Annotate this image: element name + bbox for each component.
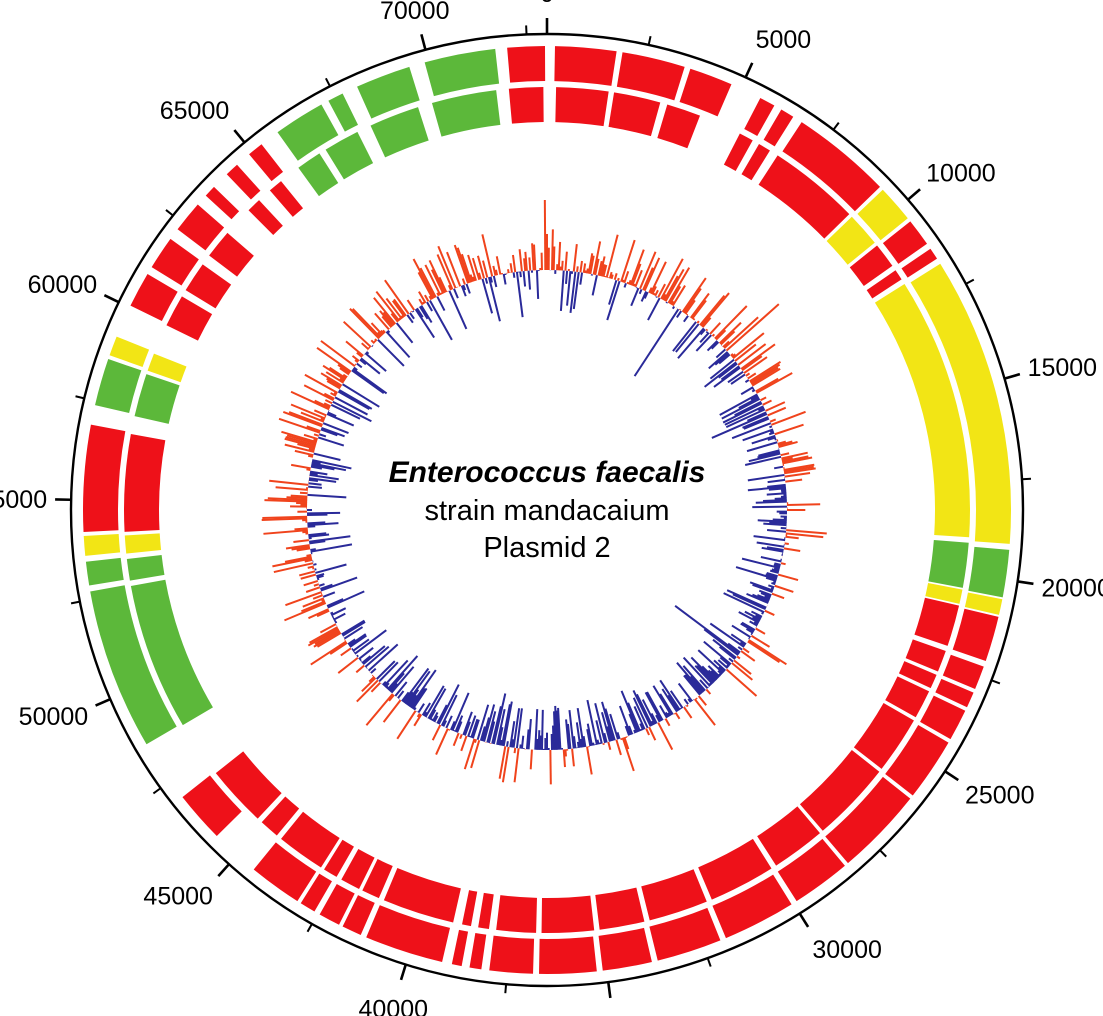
- gc-skew-positive-spike: [746, 373, 750, 375]
- gc-skew-negative-spike: [768, 585, 774, 587]
- gc-skew-positive-spike: [574, 244, 577, 271]
- gc-skew-negative-spike: [333, 618, 334, 619]
- gc-skew-positive-spike: [263, 530, 307, 534]
- gc-skew-negative-spike: [553, 726, 554, 750]
- gc-skew-positive-spike: [308, 609, 328, 618]
- gc-skew-positive-spike: [461, 736, 466, 751]
- gc-skew-positive-spike: [572, 749, 574, 767]
- gc-skew-negative-spike: [680, 708, 681, 709]
- gc-skew-positive-spike: [338, 658, 358, 673]
- gc-skew-positive-spike: [680, 309, 681, 310]
- gc-skew-negative-spike: [673, 306, 674, 308]
- gc-skew-positive-spike: [559, 242, 560, 270]
- gc-skew-positive-spike: [781, 453, 789, 455]
- gc-skew-negative-spike: [675, 606, 739, 654]
- gc-skew-positive-spike: [357, 680, 378, 701]
- gc-skew-negative-spike: [514, 272, 515, 277]
- gc-skew-positive-spike: [770, 419, 776, 421]
- gc-skew-positive-spike: [306, 469, 310, 470]
- gc-skew-negative-spike: [773, 582, 776, 583]
- axis-tick-major: [96, 699, 111, 705]
- gc-skew-negative-spike: [641, 729, 642, 731]
- gene-feature-red: [178, 205, 225, 251]
- gc-skew-positive-spike: [781, 563, 786, 564]
- gc-skew-negative-spike: [357, 364, 362, 368]
- gc-skew-negative-spike: [684, 699, 688, 704]
- gene-feature-red: [478, 893, 494, 929]
- axis-tick-label-5000: 5000: [756, 26, 812, 54]
- gc-skew-positive-spike: [355, 364, 356, 365]
- axis-tick-label-10000: 10000: [926, 159, 996, 187]
- gc-skew-negative-spike: [491, 277, 492, 283]
- gene-feature-red: [152, 239, 199, 286]
- gc-skew-negative-spike: [529, 271, 530, 290]
- plasmid-name: Plasmid 2: [483, 532, 610, 564]
- gc-skew-positive-spike: [612, 275, 613, 279]
- gc-skew-negative-spike: [319, 434, 326, 436]
- gc-skew-negative-spike: [353, 369, 387, 394]
- gc-skew-positive-spike: [433, 725, 441, 740]
- gc-skew-negative-spike: [379, 662, 398, 681]
- gc-skew-positive-spike: [775, 425, 804, 435]
- gc-skew-negative-spike: [437, 297, 444, 311]
- axis-tick-minor: [708, 958, 711, 966]
- gc-skew-positive-spike: [515, 748, 516, 753]
- gc-skew-negative-spike: [745, 380, 748, 382]
- gc-skew-positive-spike: [676, 713, 680, 719]
- gene-feature-yellow: [125, 533, 161, 553]
- gc-skew-negative-spike: [332, 616, 333, 617]
- axis-tick-label-60000: 60000: [28, 271, 98, 299]
- gc-skew-negative-spike: [748, 475, 785, 480]
- gc-skew-positive-spike: [515, 748, 519, 782]
- gene-feature-red: [609, 92, 661, 136]
- gc-skew-positive-spike: [608, 742, 610, 750]
- gc-skew-negative-spike: [334, 620, 335, 621]
- gc-skew-positive-spike: [291, 496, 308, 497]
- axis-tick-label-50000: 50000: [19, 703, 89, 731]
- gc-skew-negative-spike: [321, 578, 357, 591]
- gc-skew-negative-spike: [747, 442, 777, 451]
- gene-feature-red: [496, 895, 537, 933]
- gc-skew-positive-spike: [302, 532, 308, 533]
- gc-skew-negative-spike: [310, 549, 315, 550]
- gc-skew-negative-spike: [413, 311, 414, 312]
- gene-feature-green: [928, 540, 968, 588]
- gc-skew-negative-spike: [314, 454, 341, 460]
- gc-skew-positive-spike: [618, 278, 619, 281]
- gc-skew-positive-spike: [658, 723, 672, 750]
- gene-feature-red: [595, 888, 644, 930]
- gc-skew-negative-spike: [580, 273, 582, 285]
- gc-skew-negative-spike: [634, 730, 635, 733]
- gc-skew-positive-spike: [687, 314, 688, 315]
- gc-skew-negative-spike: [522, 736, 523, 749]
- gc-skew-positive-spike: [306, 555, 311, 556]
- gc-skew-positive-spike: [262, 517, 307, 518]
- gc-skew-negative-spike: [542, 710, 543, 750]
- gene-feature-red: [130, 274, 177, 321]
- gc-skew-positive-spike: [607, 235, 618, 278]
- gc-skew-positive-spike: [423, 302, 424, 304]
- axis-tick-minor: [166, 210, 173, 216]
- gc-skew-positive-spike: [654, 293, 655, 295]
- gc-skew-positive-spike: [373, 676, 374, 677]
- gc-skew-positive-spike: [269, 481, 308, 485]
- gene-feature-red: [452, 930, 468, 966]
- gc-skew-positive-spike: [384, 700, 401, 722]
- gc-skew-negative-spike: [418, 704, 424, 713]
- gc-skew-negative-spike: [334, 614, 346, 620]
- gene-feature-red: [227, 165, 261, 200]
- gc-skew-positive-spike: [314, 584, 319, 586]
- gc-skew-positive-spike: [313, 595, 323, 599]
- gc-skew-negative-spike: [315, 564, 346, 572]
- axis-tick-label-65000: 65000: [160, 97, 230, 125]
- gc-skew-positive-spike: [784, 548, 800, 551]
- gene-feature-green: [326, 132, 373, 180]
- gc-skew-negative-spike: [706, 332, 707, 333]
- gene-feature-red: [249, 144, 283, 181]
- gene-feature-red: [542, 896, 595, 933]
- gc-skew-positive-spike: [760, 397, 766, 400]
- axis-tick-major: [104, 295, 118, 302]
- gc-skew-positive-spike: [623, 738, 634, 771]
- gc-skew-positive-spike: [778, 575, 798, 581]
- gc-skew-positive-spike: [616, 740, 621, 755]
- gc-skew-negative-spike: [640, 289, 642, 293]
- gc-skew-positive-spike: [615, 273, 617, 279]
- axis-tick-major: [908, 189, 920, 199]
- gc-skew-positive-spike: [460, 734, 462, 738]
- gc-skew-negative-spike: [372, 346, 373, 347]
- gc-skew-positive-spike: [693, 319, 694, 320]
- gc-skew-positive-spike: [511, 263, 512, 272]
- gc-skew-negative-spike: [489, 277, 500, 321]
- gene-feature-red: [599, 928, 652, 971]
- gc-skew-negative-spike: [775, 439, 777, 440]
- gc-skew-positive-spike: [408, 300, 415, 310]
- gc-skew-positive-spike: [419, 299, 422, 305]
- center-title-block: Enterococcus faecalis strain mandacaium …: [389, 456, 706, 564]
- gc-skew-negative-spike: [752, 390, 755, 392]
- gc-skew-positive-spike: [765, 611, 774, 615]
- gc-skew-negative-spike: [666, 302, 667, 303]
- gc-skew-negative-spike: [754, 536, 786, 540]
- gc-skew-negative-spike: [756, 502, 787, 503]
- gene-feature-red: [555, 87, 608, 126]
- gc-skew-negative-spike: [331, 613, 333, 614]
- gc-skew-positive-spike: [634, 284, 635, 286]
- gc-skew-negative-spike: [761, 557, 782, 562]
- gc-skew-positive-spike: [621, 240, 635, 282]
- gc-skew-positive-spike: [587, 269, 588, 274]
- gc-skew-negative-spike: [502, 704, 510, 745]
- axis-tick-major: [218, 864, 229, 876]
- gene-feature-red: [462, 890, 477, 926]
- gc-skew-positive-spike: [454, 733, 459, 746]
- gc-skew-positive-spike: [306, 587, 320, 592]
- gc-skew-positive-spike: [513, 255, 515, 272]
- gc-skew-positive-spike: [397, 711, 415, 739]
- gc-skew-negative-spike: [774, 467, 783, 469]
- gc-skew-positive-spike: [771, 412, 805, 425]
- gc-skew-negative-spike: [751, 634, 752, 635]
- gene-feature-green: [86, 558, 124, 586]
- gene-feature-red: [166, 296, 212, 340]
- gc-skew-positive-spike: [300, 493, 308, 494]
- axis-tick-major: [1018, 581, 1034, 583]
- gc-skew-negative-spike: [308, 487, 322, 488]
- axis-tick-label-25000: 25000: [965, 781, 1035, 809]
- gc-skew-positive-spike: [699, 696, 707, 705]
- gc-skew-negative-spike: [775, 498, 787, 499]
- gc-skew-positive-spike: [436, 729, 448, 755]
- gc-skew-positive-spike: [726, 669, 756, 696]
- gc-skew-negative-spike: [593, 275, 597, 295]
- gc-skew-positive-spike: [565, 749, 566, 756]
- axis-tick-major: [608, 982, 610, 998]
- gc-skew-positive-spike: [356, 666, 364, 673]
- gc-skew-positive-spike: [785, 480, 802, 482]
- gc-skew-negative-spike: [729, 658, 733, 661]
- gc-skew-positive-spike: [531, 750, 532, 770]
- circular-genome-map-container: 0500010000150002000025000300003500040000…: [0, 0, 1103, 1016]
- gene-feature-red: [953, 609, 999, 661]
- gc-skew-positive-spike: [346, 341, 363, 355]
- gc-skew-positive-spike: [293, 540, 308, 542]
- gene-feature-red: [617, 52, 685, 100]
- gc-skew-negative-spike: [354, 652, 355, 653]
- gene-feature-red: [270, 181, 303, 217]
- gc-skew-negative-spike: [660, 680, 680, 710]
- gc-skew-positive-spike: [684, 707, 692, 718]
- gc-skew-negative-spike: [378, 340, 404, 366]
- gc-skew-positive-spike: [706, 329, 707, 330]
- gc-skew-negative-spike: [308, 526, 316, 527]
- gc-skew-negative-spike: [397, 323, 413, 343]
- gc-skew-negative-spike: [749, 638, 750, 639]
- gc-skew-positive-spike: [374, 341, 375, 342]
- gc-skew-negative-spike: [524, 271, 526, 286]
- gc-skew-negative-spike: [679, 683, 692, 701]
- axis-tick-minor: [326, 78, 330, 86]
- gc-skew-negative-spike: [365, 353, 386, 371]
- gc-skew-positive-spike: [710, 323, 720, 334]
- gc-skew-positive-spike: [564, 749, 565, 767]
- gc-skew-positive-spike: [291, 465, 310, 468]
- gc-skew-negative-spike: [309, 536, 350, 542]
- gc-skew-negative-spike: [357, 655, 358, 656]
- gc-skew-positive-spike: [772, 594, 784, 599]
- gc-skew-negative-spike: [631, 288, 638, 306]
- gc-skew-positive-spike: [375, 339, 377, 341]
- axis-tick-minor: [966, 280, 974, 284]
- gc-skew-negative-spike: [769, 433, 774, 435]
- gc-skew-negative-spike: [361, 358, 380, 373]
- gc-skew-positive-spike: [756, 629, 765, 634]
- gene-feature-red: [507, 46, 545, 83]
- gc-skew-positive-spike: [726, 304, 778, 350]
- gc-skew-positive-spike: [366, 694, 392, 725]
- gene-feature-red: [83, 425, 125, 532]
- axis-tick-minor: [649, 36, 651, 45]
- gc-skew-negative-spike: [318, 437, 344, 445]
- axis-tick-label-40000: 40000: [359, 995, 429, 1016]
- gc-skew-positive-spike: [580, 261, 582, 272]
- axis-tick-label-30000: 30000: [812, 936, 882, 964]
- axis-tick-label-0: 0: [540, 0, 554, 8]
- axis-tick-major: [800, 913, 808, 927]
- gc-skew-positive-spike: [697, 321, 699, 323]
- gc-skew-negative-spike: [388, 656, 418, 690]
- gc-skew-positive-spike: [562, 261, 563, 271]
- gc-skew-positive-spike: [787, 504, 820, 505]
- gc-skew-positive-spike: [785, 543, 789, 544]
- gc-skew-positive-spike: [737, 656, 740, 658]
- gene-feature-green: [432, 90, 500, 137]
- gc-skew-negative-spike: [537, 270, 538, 299]
- gc-skew-positive-spike: [565, 252, 566, 271]
- genome-map-svg: 0500010000150002000025000300003500040000…: [0, 0, 1103, 1016]
- gc-skew-positive-spike: [520, 249, 522, 271]
- gc-skew-negative-spike: [757, 542, 784, 546]
- strain-name: strain mandacaium: [425, 495, 670, 527]
- gc-skew-negative-spike: [313, 564, 316, 565]
- gc-skew-negative-spike: [446, 716, 452, 728]
- gc-skew-positive-spike: [775, 586, 794, 592]
- gc-skew-positive-spike: [441, 293, 442, 295]
- gc-skew-positive-spike: [666, 719, 670, 726]
- gc-skew-negative-spike: [566, 719, 569, 749]
- gc-skew-negative-spike: [635, 309, 679, 376]
- axis-tick-label-15000: 15000: [1028, 354, 1098, 382]
- gene-feature-green: [127, 555, 165, 581]
- axis-tick-major: [945, 771, 958, 780]
- axis-tick-minor: [505, 984, 506, 993]
- axis-tick-minor: [880, 850, 886, 856]
- gene-feature-red: [209, 233, 254, 277]
- gc-skew-positive-spike: [623, 280, 624, 282]
- gc-skew-positive-spike: [314, 434, 319, 436]
- gc-skew-negative-spike: [431, 719, 432, 721]
- gene-feature-red: [469, 933, 486, 969]
- axis-tick-label-45000: 45000: [143, 882, 213, 910]
- gc-skew-negative-spike: [593, 743, 594, 746]
- gc-skew-positive-spike: [577, 266, 578, 271]
- gc-skew-negative-spike: [566, 271, 567, 284]
- gene-feature-red: [249, 200, 283, 235]
- gc-skew-negative-spike: [308, 483, 321, 484]
- gc-skew-negative-spike: [648, 298, 660, 320]
- gene-feature-red: [489, 936, 534, 974]
- organism-name: Enterococcus faecalis: [389, 456, 706, 489]
- axis-tick-major: [421, 34, 425, 49]
- gc-skew-positive-spike: [649, 727, 655, 740]
- gc-skew-positive-spike: [706, 689, 710, 694]
- gc-skew-negative-spike: [673, 322, 696, 351]
- gc-skew-negative-spike: [517, 272, 523, 317]
- gc-skew-positive-spike: [552, 229, 553, 270]
- axis-tick-label-70000: 70000: [380, 0, 450, 25]
- axis-tick-minor: [76, 396, 85, 398]
- gc-skew-positive-spike: [496, 270, 497, 275]
- gc-skew-positive-spike: [294, 528, 307, 529]
- gc-skew-negative-spike: [360, 659, 361, 660]
- axis-tick-label-20000: 20000: [1041, 575, 1103, 603]
- gene-feature-red: [186, 264, 232, 308]
- axis-tick-label-55000: 55000: [0, 486, 47, 514]
- gc-skew-negative-spike: [753, 389, 754, 390]
- gc-skew-negative-spike: [773, 519, 787, 520]
- gc-skew-positive-spike: [371, 683, 380, 692]
- gene-feature-red: [539, 937, 597, 974]
- gene-feature-red: [657, 104, 700, 148]
- gc-skew-negative-spike: [704, 629, 738, 655]
- gene-feature-green: [95, 359, 141, 413]
- gc-skew-positive-spike: [482, 234, 492, 276]
- gc-skew-negative-spike: [307, 522, 325, 523]
- gc-skew-positive-spike: [655, 290, 658, 296]
- axis-tick-minor: [153, 788, 160, 793]
- gc-skew-ring: [262, 200, 827, 784]
- gc-skew-positive-spike: [687, 705, 688, 706]
- gc-skew-negative-spike: [363, 646, 385, 664]
- gc-skew-positive-spike: [341, 648, 351, 655]
- gc-skew-negative-spike: [561, 271, 564, 311]
- gc-skew-negative-spike: [768, 480, 785, 482]
- gc-skew-positive-spike: [463, 279, 465, 285]
- gc-skew-positive-spike: [385, 280, 409, 314]
- gc-skew-positive-spike: [713, 334, 715, 336]
- gene-feature-green: [968, 547, 1009, 597]
- axis-tick-minor: [1022, 479, 1031, 480]
- gc-skew-positive-spike: [646, 729, 649, 735]
- gc-skew-negative-spike: [771, 588, 774, 589]
- gc-skew-negative-spike: [366, 352, 368, 354]
- gc-skew-negative-spike: [323, 592, 335, 597]
- gc-skew-negative-spike: [738, 647, 742, 650]
- axis-tick-major: [401, 965, 406, 980]
- gc-skew-positive-spike: [763, 400, 772, 404]
- gc-skew-positive-spike: [628, 282, 629, 284]
- gc-skew-negative-spike: [758, 520, 787, 521]
- gc-skew-negative-spike: [466, 284, 469, 294]
- gc-skew-positive-spike: [692, 301, 706, 319]
- gene-feature-yellow: [84, 534, 120, 556]
- gc-skew-positive-spike: [529, 257, 530, 270]
- gc-skew-negative-spike: [684, 316, 688, 322]
- gc-skew-negative-spike: [319, 584, 324, 586]
- gc-skew-negative-spike: [762, 613, 764, 614]
- gene-feature-red: [509, 87, 544, 124]
- gc-skew-negative-spike: [371, 669, 376, 673]
- gc-skew-positive-spike: [369, 347, 370, 348]
- gc-skew-negative-spike: [486, 278, 487, 284]
- gene-feature-red: [680, 69, 732, 117]
- gc-skew-positive-spike: [621, 738, 622, 740]
- gc-skew-positive-spike: [508, 269, 509, 273]
- gc-skew-negative-spike: [520, 271, 521, 277]
- gc-skew-negative-spike: [388, 331, 390, 333]
- gc-skew-positive-spike: [458, 248, 470, 283]
- axis-tick-minor: [308, 924, 312, 932]
- axis-tick-major: [1004, 374, 1019, 378]
- gene-feature-red: [914, 598, 959, 646]
- gc-skew-negative-spike: [771, 583, 775, 584]
- gc-skew-negative-spike: [391, 667, 413, 693]
- gene-feature-red: [206, 187, 239, 219]
